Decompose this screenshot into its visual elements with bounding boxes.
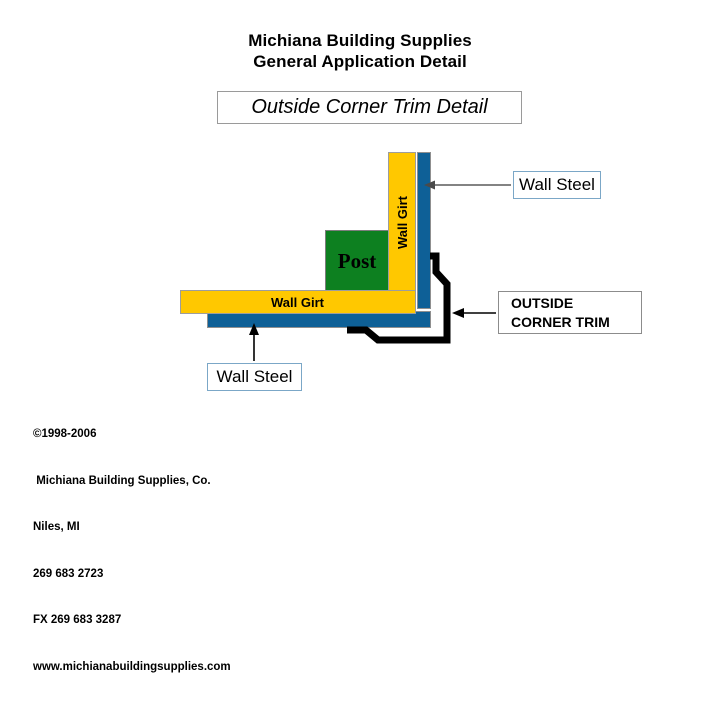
footer-contact-block: ©1998-2006 Michiana Building Supplies, C…	[33, 396, 231, 706]
callout-wall-steel-bottom: Wall Steel	[207, 363, 302, 391]
callout-outside-corner-trim-label: OUTSIDE CORNER TRIM	[499, 294, 610, 332]
page-title: Michiana Building Supplies General Appli…	[0, 30, 720, 72]
wall-girt-vertical	[388, 152, 416, 292]
footer-line-phone: 269 683 2723	[33, 567, 231, 583]
footer-line-copyright: ©1998-2006	[33, 427, 231, 443]
subtitle-box: Outside Corner Trim Detail	[217, 91, 522, 124]
post-block: Post	[325, 230, 389, 292]
callout-trim-line-1: OUTSIDE	[511, 294, 610, 313]
post-label: Post	[338, 249, 377, 274]
footer-line-fax: FX 269 683 3287	[33, 613, 231, 629]
callout-wall-steel-top: Wall Steel	[513, 171, 601, 199]
title-line-2: General Application Detail	[0, 51, 720, 72]
callout-outside-corner-trim: OUTSIDE CORNER TRIM	[498, 291, 642, 334]
wall-girt-horizontal	[180, 290, 416, 314]
slide-canvas: Michiana Building Supplies General Appli…	[0, 0, 720, 540]
callout-wall-steel-bottom-label: Wall Steel	[217, 367, 293, 387]
callout-trim-line-2: CORNER TRIM	[511, 313, 610, 332]
title-line-1: Michiana Building Supplies	[0, 30, 720, 51]
footer-line-city: Niles, MI	[33, 520, 231, 536]
footer-line-company: Michiana Building Supplies, Co.	[33, 474, 231, 490]
callout-wall-steel-top-label: Wall Steel	[519, 175, 595, 195]
footer-line-website: www.michianabuildingsupplies.com	[33, 660, 231, 676]
leader-arrow-outside-corner-trim	[452, 308, 464, 318]
wall-steel-vertical	[417, 152, 431, 309]
subtitle-text: Outside Corner Trim Detail	[251, 96, 487, 119]
